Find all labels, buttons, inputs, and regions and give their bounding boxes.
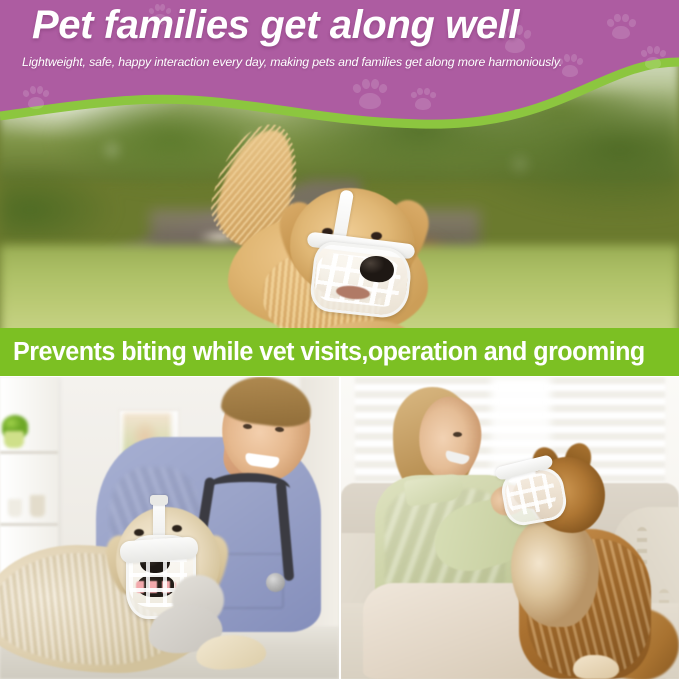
clinic-shelf-line: [0, 451, 58, 454]
clinic-container: [30, 495, 45, 517]
stethoscope-bell: [266, 573, 285, 592]
feature-banner-text: Prevents biting while vet visits,operati…: [13, 337, 663, 367]
sheltie-paw: [573, 655, 619, 679]
page-subtitle: Lightweight, safe, happy interaction eve…: [22, 54, 562, 70]
paw-print-icon: [640, 44, 666, 69]
panel-home-grooming: [341, 377, 679, 679]
product-infographic-poster: Pet families get along well Lightweight,…: [0, 0, 679, 679]
page-title: Pet families get along well: [32, 2, 519, 48]
clinic-container: [8, 499, 22, 517]
vet-dog-eye-right: [172, 525, 182, 532]
vet-muzzle-clip: [150, 495, 168, 505]
vet-dog-eye-left: [134, 529, 144, 536]
feature-banner: Prevents biting while vet visits,operati…: [0, 328, 679, 376]
paw-print-icon: [606, 12, 636, 40]
woman-eye: [453, 432, 462, 437]
clinic-shelf-line: [0, 523, 58, 526]
paw-print-icon: [352, 76, 388, 110]
paw-print-icon: [22, 84, 50, 110]
panel-vet-visit: [0, 377, 339, 679]
paw-print-icon: [410, 86, 436, 110]
clinic-plant-pot: [4, 431, 24, 448]
sheltie-mane: [511, 515, 599, 627]
